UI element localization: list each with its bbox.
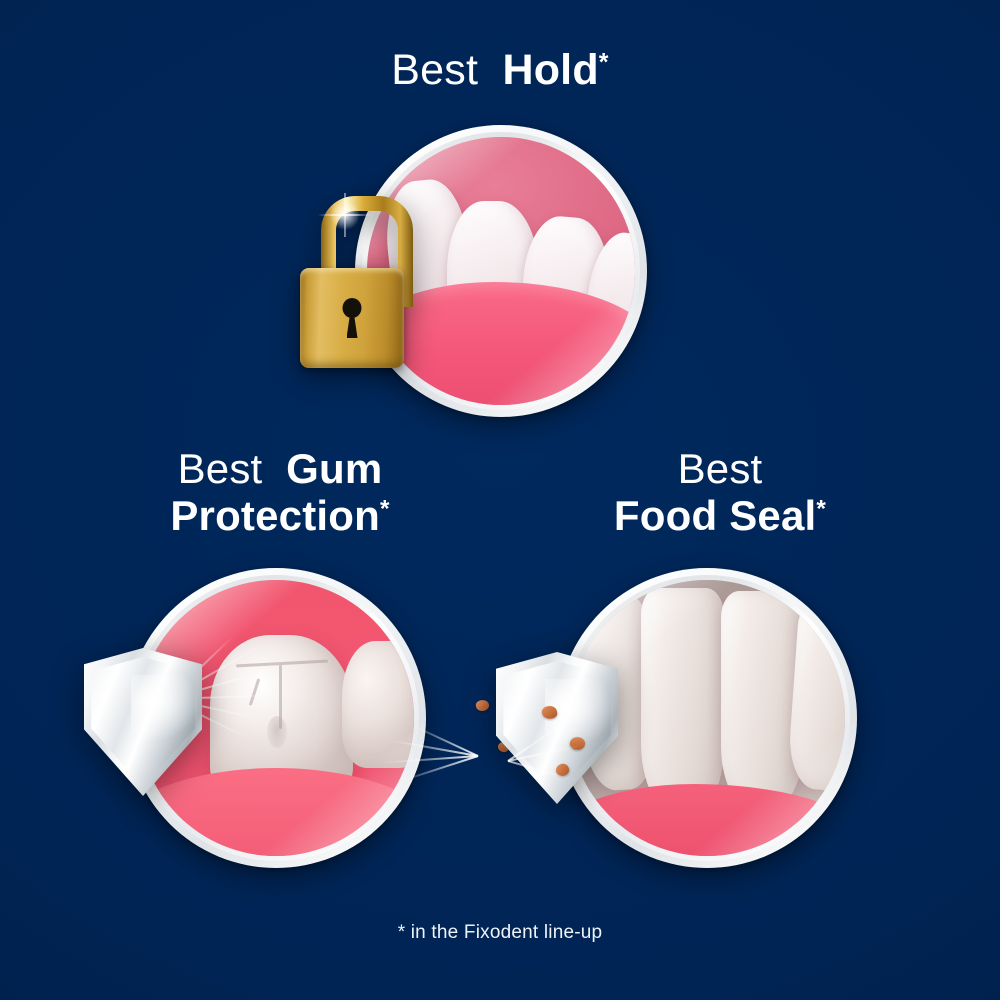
heading-hold-asterisk: * — [599, 48, 609, 76]
shield-icon — [496, 652, 618, 804]
padlock-body — [300, 268, 404, 368]
heading-gum-asterisk: * — [380, 496, 390, 523]
heading-gum-bold-2: Protection — [170, 492, 380, 539]
heading-hold-bold: Hold — [502, 46, 598, 94]
heading-gum-bold-1: Gum — [286, 445, 382, 492]
panel-hold-heading: Best Hold* — [250, 46, 750, 94]
footnote-text: * in the Fixodent line-up — [0, 922, 1000, 944]
incisor-tooth — [641, 588, 724, 814]
shield-icon — [84, 648, 202, 796]
incisor-tooth — [721, 591, 804, 812]
padlock-icon — [300, 196, 404, 368]
heading-food-asterisk: * — [816, 496, 826, 523]
tooth-groove — [249, 678, 261, 706]
shield-inner-plate — [503, 661, 610, 795]
panel-gum-heading: Best Gum Protection* — [60, 445, 500, 539]
poster-canvas: Best Hold* Best Gum Protection* — [0, 0, 1000, 1000]
tooth-fissure — [267, 716, 287, 748]
food-particle — [475, 698, 491, 712]
heading-food-bold: Food Seal — [614, 492, 817, 539]
heading-gum-light: Best — [178, 445, 263, 492]
panel-food-heading: Best Food Seal* — [500, 445, 940, 539]
heading-food-light: Best — [678, 445, 763, 492]
padlock-keyhole-icon — [343, 298, 362, 318]
shield-inner-plate — [91, 657, 195, 787]
molar-tooth — [342, 641, 414, 768]
heading-hold-light: Best — [391, 46, 478, 94]
